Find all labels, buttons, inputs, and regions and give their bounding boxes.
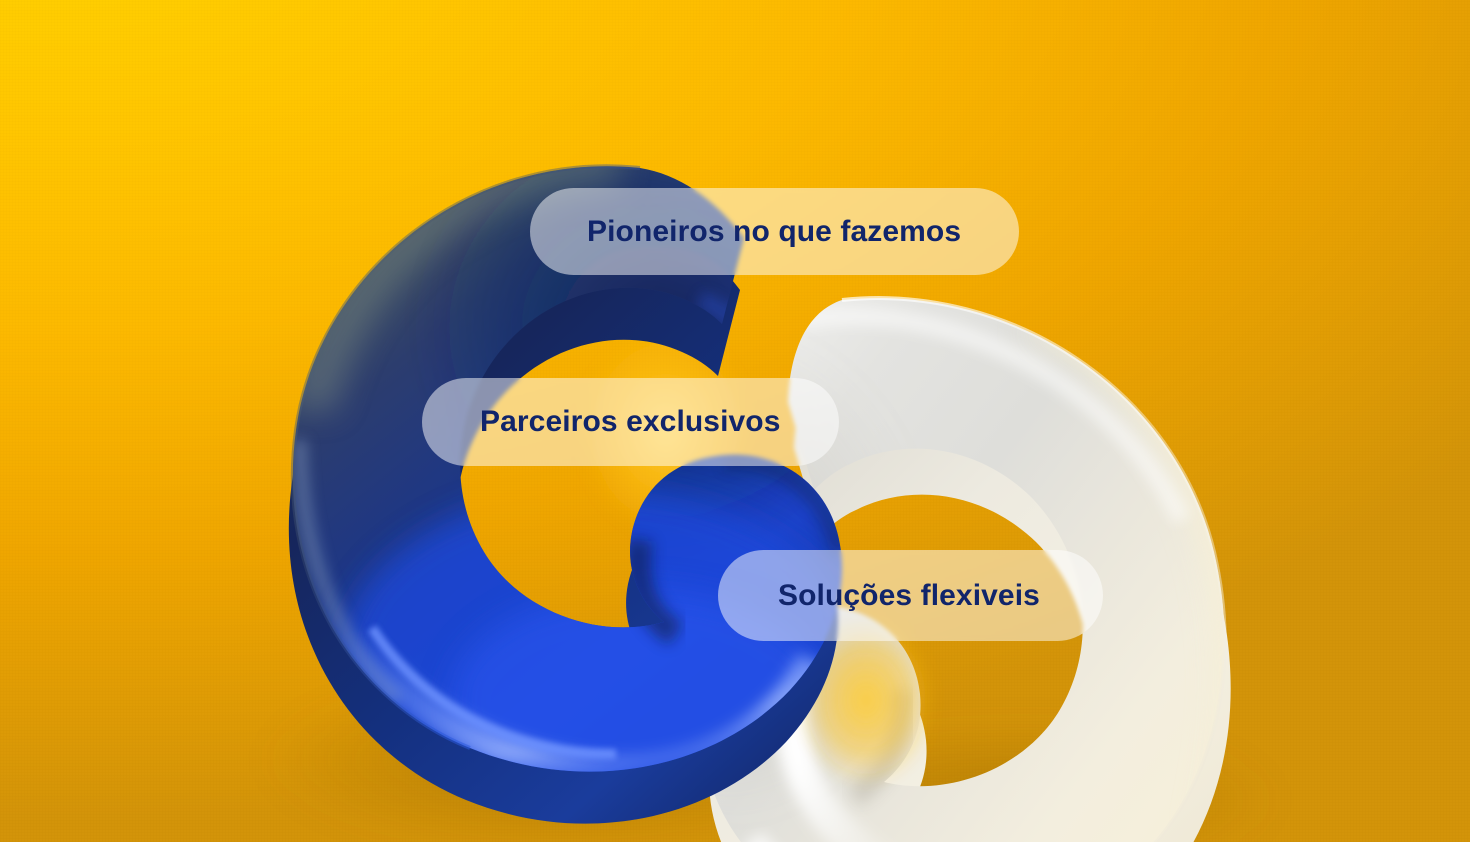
hero-banner: Pioneiros no que fazemos Parceiros exclu…	[0, 0, 1470, 842]
pill-label-text: Parceiros exclusivos	[480, 407, 781, 437]
pill-label-text: Pioneiros no que fazemos	[587, 217, 961, 247]
label-pill-solucoes[interactable]: Soluções flexiveis	[718, 550, 1103, 641]
label-pill-pioneiros[interactable]: Pioneiros no que fazemos	[530, 188, 1019, 275]
label-pill-parceiros[interactable]: Parceiros exclusivos	[422, 378, 839, 466]
pill-label-text: Soluções flexiveis	[778, 581, 1040, 611]
